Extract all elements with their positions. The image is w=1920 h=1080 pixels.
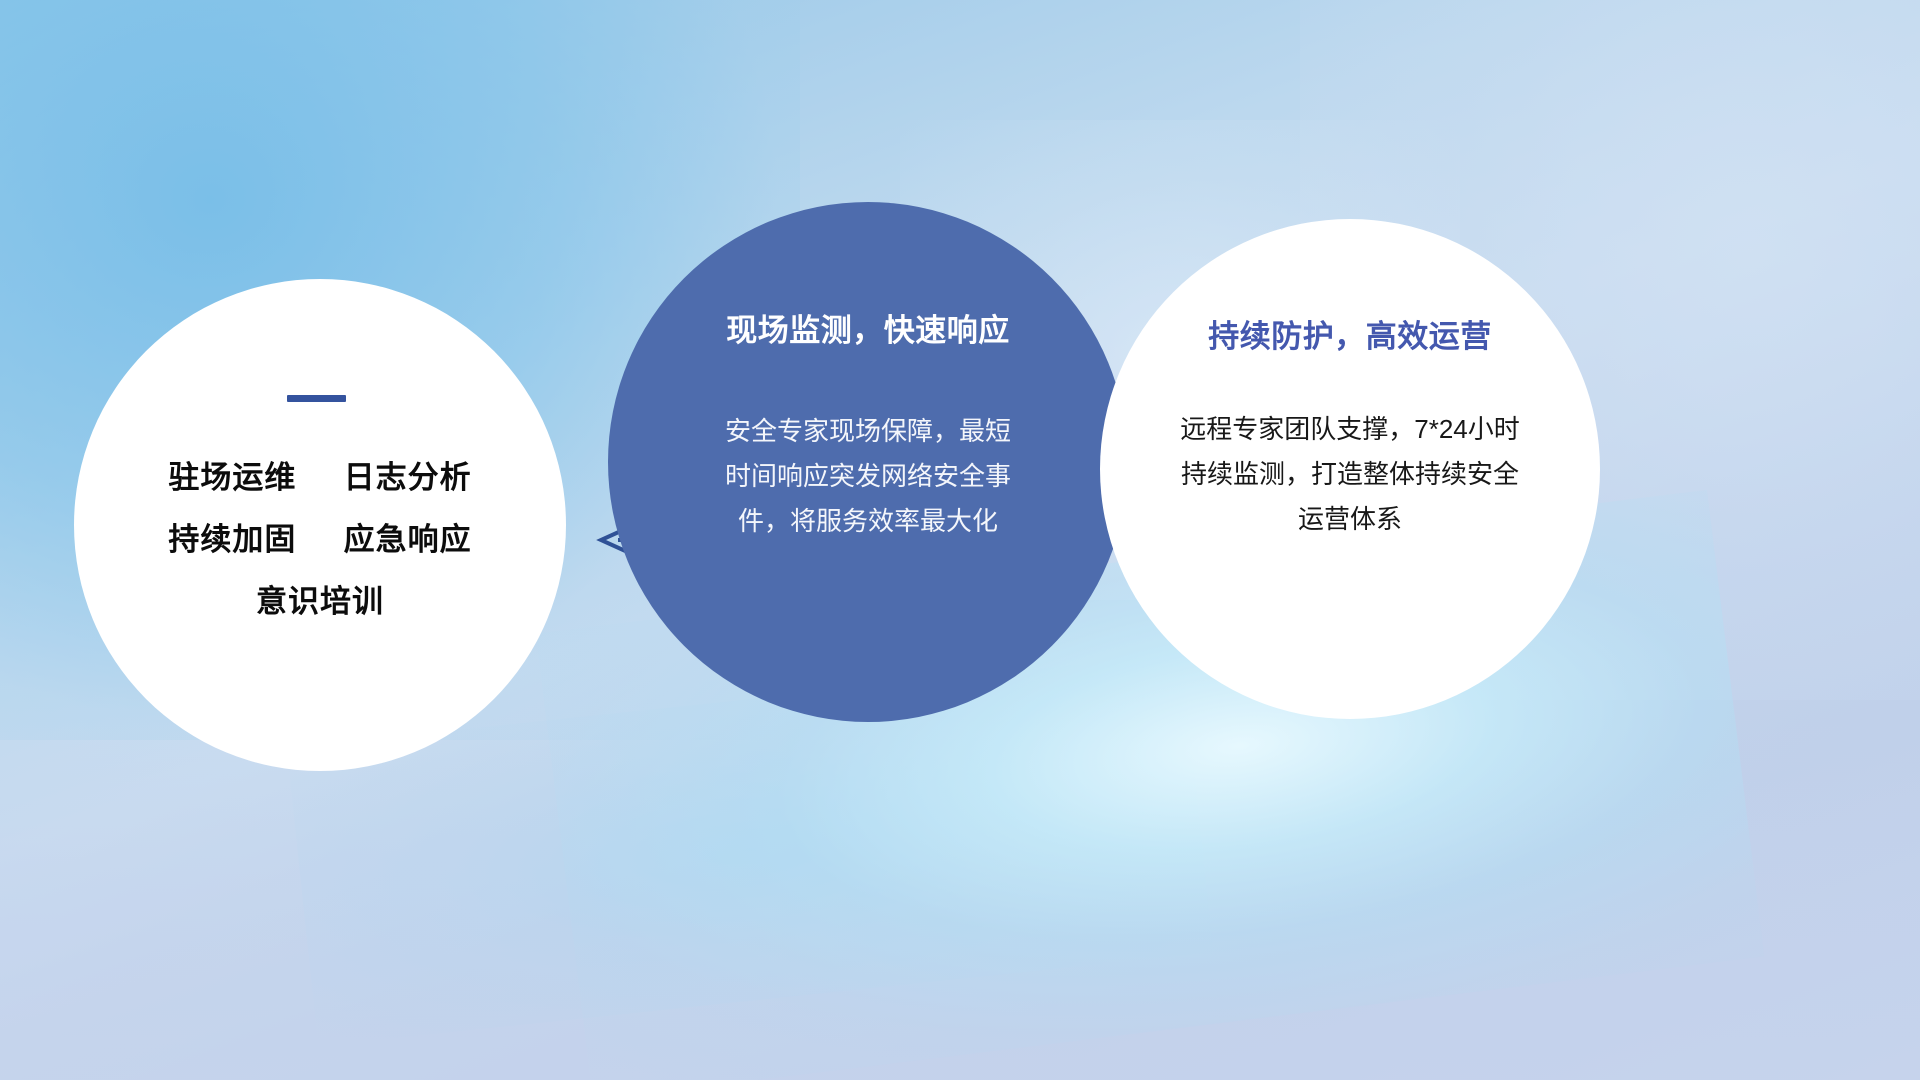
capability-label: 驻场运维 — [168, 460, 296, 495]
capability-label: 持续加固 — [168, 522, 296, 557]
list-item: 意识培训 — [74, 571, 566, 633]
middle-circle-body: 安全专家现场保障，最短时间响应突发网络安全事件，将服务效率最大化 — [716, 409, 1021, 544]
capability-circle-left[interactable]: 驻场运维 日志分析 持续加固 应急响应 意识培训 — [74, 279, 566, 771]
list-item: 驻场运维 日志分析 — [74, 447, 566, 509]
divider-dash — [287, 395, 346, 402]
list-item: 持续加固 应急响应 — [74, 509, 566, 571]
middle-circle-title: 现场监测，快速响应 — [726, 305, 1010, 350]
capability-circle-right[interactable]: 持续防护，高效运营 远程专家团队支撑，7*24小时持续监测，打造整体持续安全运营… — [1100, 219, 1600, 719]
capability-list: 驻场运维 日志分析 持续加固 应急响应 意识培训 — [74, 447, 566, 633]
capability-circle-middle[interactable]: 现场监测，快速响应 安全专家现场保障，最短时间响应突发网络安全事件，将服务效率最… — [608, 202, 1128, 722]
capability-label: 应急响应 — [344, 522, 472, 557]
right-circle-body: 远程专家团队支撑，7*24小时持续监测，打造整体持续安全运营体系 — [1170, 407, 1530, 542]
right-circle-title: 持续防护，高效运营 — [1208, 311, 1492, 356]
diagram-stage: 驻场运维 日志分析 持续加固 应急响应 意识培训 现场监测，快速响应 安全专家现… — [0, 0, 1920, 1080]
capability-label: 日志分析 — [344, 460, 472, 495]
capability-label: 意识培训 — [256, 584, 384, 619]
